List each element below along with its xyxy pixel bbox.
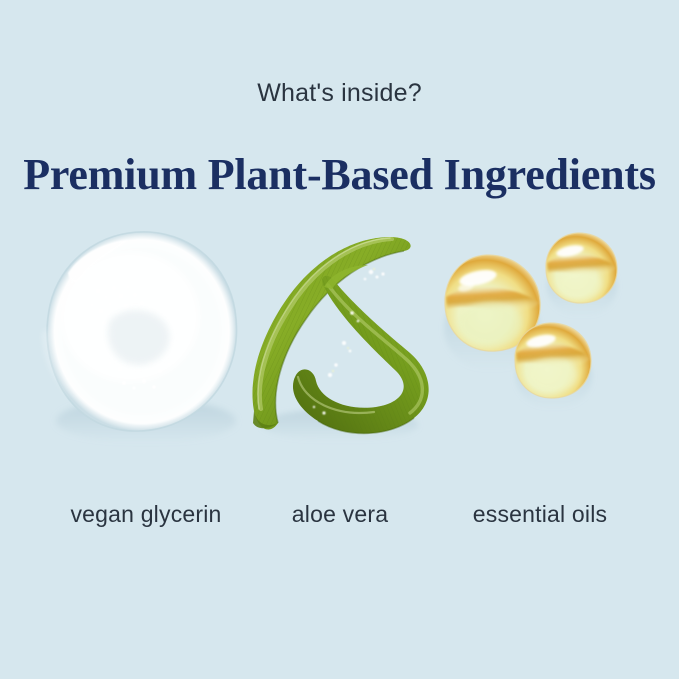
aloe-vera-leaf-icon: [240, 225, 440, 450]
glycerin-droplet-icon: [22, 225, 270, 450]
oil-drop-top-right: [546, 233, 617, 317]
ingredient-essential-oils: essential oils: [430, 225, 650, 545]
ingredient-caption-vegan-glycerin: vegan glycerin: [22, 500, 270, 528]
ingredient-row: vegan glycerin: [0, 225, 679, 545]
ingredient-caption-essential-oils: essential oils: [430, 500, 650, 528]
ingredient-caption-aloe-vera: aloe vera: [240, 500, 440, 528]
eyebrow-text: What's inside?: [0, 78, 679, 108]
essential-oil-droplets-icon: [430, 225, 650, 450]
ingredient-aloe-vera: aloe vera: [240, 225, 440, 545]
ingredient-vegan-glycerin: vegan glycerin: [22, 225, 270, 545]
ingredients-poster: What's inside? Premium Plant-Based Ingre…: [0, 0, 679, 679]
oil-drop-bottom: [515, 323, 592, 409]
page-title: Premium Plant-Based Ingredients: [0, 149, 679, 201]
